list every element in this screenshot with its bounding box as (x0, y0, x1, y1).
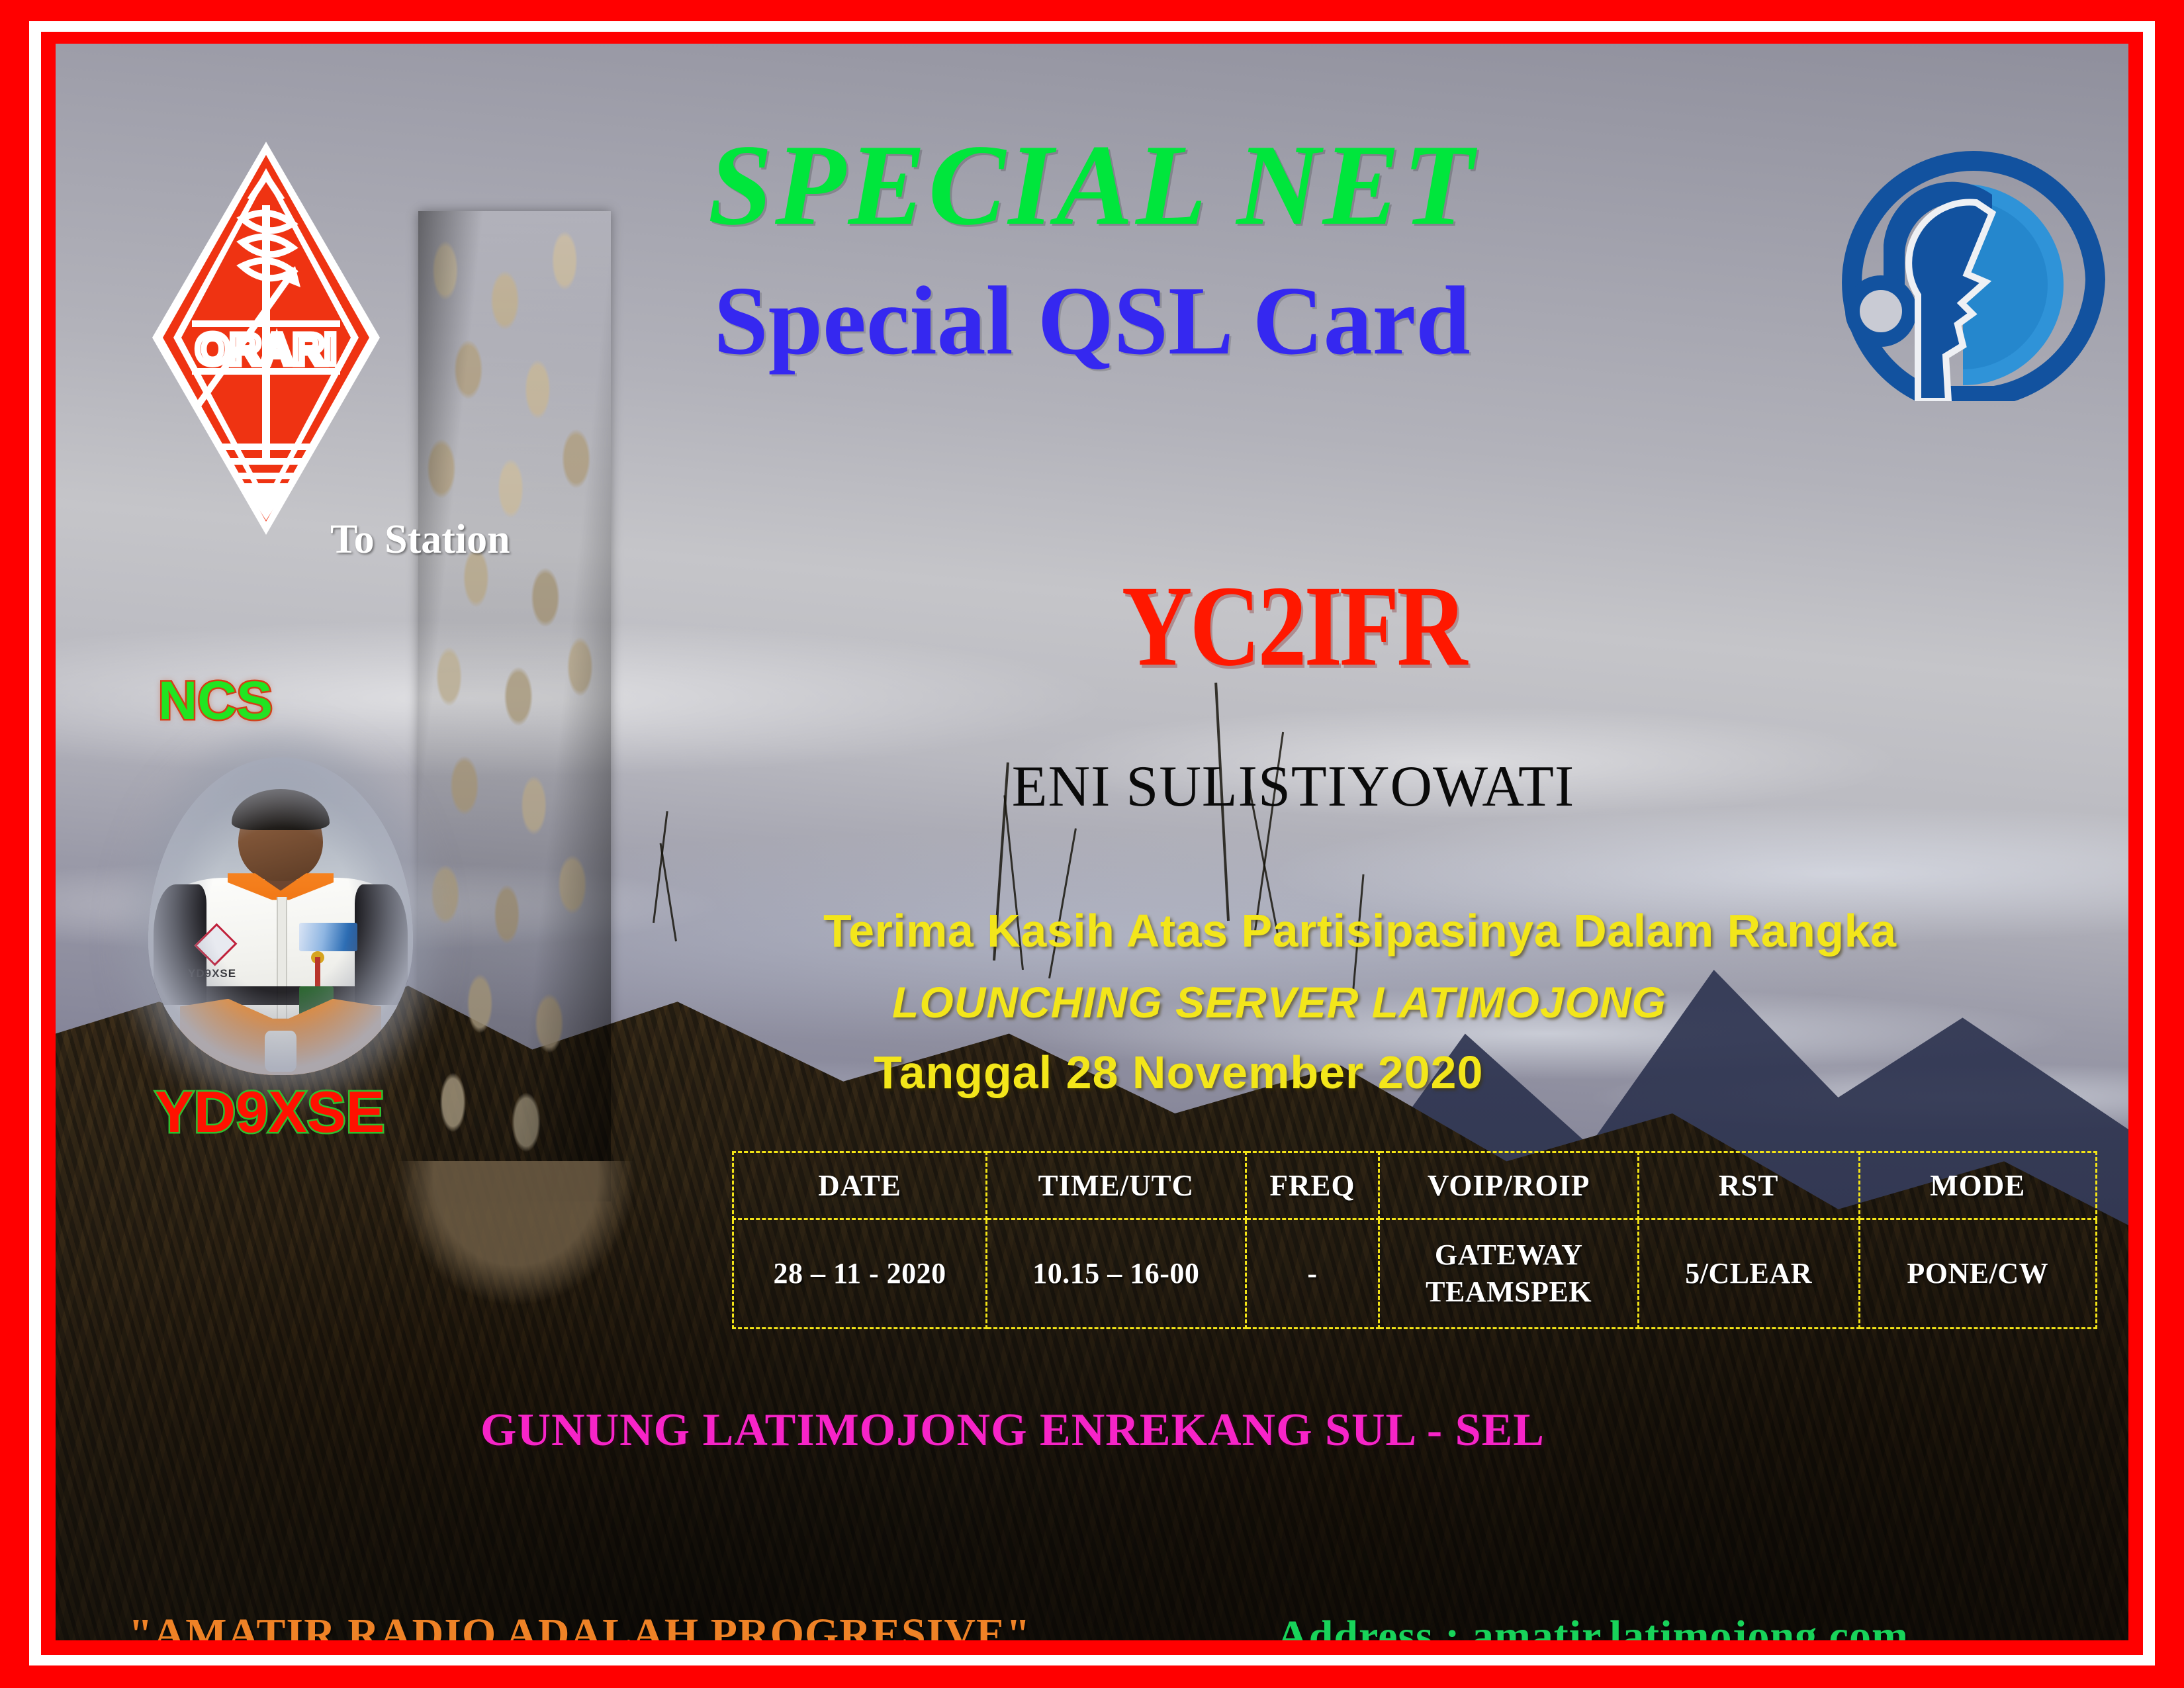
table-row: 28 – 11 - 2020 10.15 – 16-00 - GATEWAY T… (733, 1219, 2097, 1329)
table-cell-date: 28 – 11 - 2020 (733, 1219, 987, 1329)
qsl-card: ORARI SPECIAL NET Special QSL Card To St… (0, 0, 2184, 1688)
qso-log-table: DATE TIME/UTC FREQ VOIP/ROIP RST MODE 28… (732, 1151, 2097, 1329)
table-header-time: TIME/UTC (987, 1152, 1246, 1219)
table-cell-voip-line2: TEAMSPEK (1381, 1274, 1636, 1311)
table-header-date: DATE (733, 1152, 987, 1219)
ncs-callsign: YD9XSE (155, 1083, 385, 1141)
table-cell-voip: GATEWAY TEAMSPEK (1379, 1219, 1638, 1329)
page-subtitle: Special QSL Card (56, 272, 2128, 370)
table-header-voip: VOIP/ROIP (1379, 1152, 1638, 1219)
table-header-freq: FREQ (1246, 1152, 1379, 1219)
to-station-label: To Station (330, 519, 510, 560)
page-title: SPECIAL NET (56, 127, 2128, 243)
table-header-row: DATE TIME/UTC FREQ VOIP/ROIP RST MODE (733, 1152, 2097, 1219)
thanks-line-1: Terima Kasih Atas Partisipasinya Dalam R… (823, 904, 2120, 957)
photo-vignette (148, 757, 413, 1075)
location-line-text: GUNUNG LATIMOJONG ENREKANG SUL - SEL (480, 1405, 1545, 1456)
thanks-line-2: LOUNCHING SERVER LATIMOJONG (823, 977, 2120, 1027)
table-header-mode: MODE (1859, 1152, 2096, 1219)
station-callsign: YC2IFR (823, 560, 1763, 693)
table-cell-voip-line1: GATEWAY (1381, 1237, 1636, 1274)
website-address: Address : amatir.latimojong.com (1277, 1611, 1909, 1640)
operator-name: ENI SULISTIYOWATI (823, 753, 1763, 820)
thanks-block: Terima Kasih Atas Partisipasinya Dalam R… (823, 904, 2120, 1099)
stone-cairn-base (391, 1161, 640, 1321)
location-line: GUNUNG LATIMOJONG ENREKANG SUL - SEL (56, 1404, 2128, 1457)
ncs-label-text: NCS (158, 671, 273, 731)
table-cell-freq: - (1246, 1219, 1379, 1329)
ncs-label: NCS (158, 674, 273, 728)
table-cell-rst: 5/CLEAR (1638, 1219, 1859, 1329)
card-photo-scene: ORARI SPECIAL NET Special QSL Card To St… (56, 44, 2128, 1640)
motto-text: "AMATIR RADIO ADALAH PROGRESIVE" (128, 1609, 1031, 1640)
callsign-block: YC2IFR (823, 560, 1763, 673)
table-cell-time: 10.15 – 16-00 (987, 1219, 1246, 1329)
table-cell-mode: PONE/CW (1859, 1219, 2096, 1329)
thanks-line-3: Tanggal 28 November 2020 (823, 1046, 2120, 1099)
ncs-operator-photo: YD9XSE (148, 757, 413, 1075)
table-header-rst: RST (1638, 1152, 1859, 1219)
